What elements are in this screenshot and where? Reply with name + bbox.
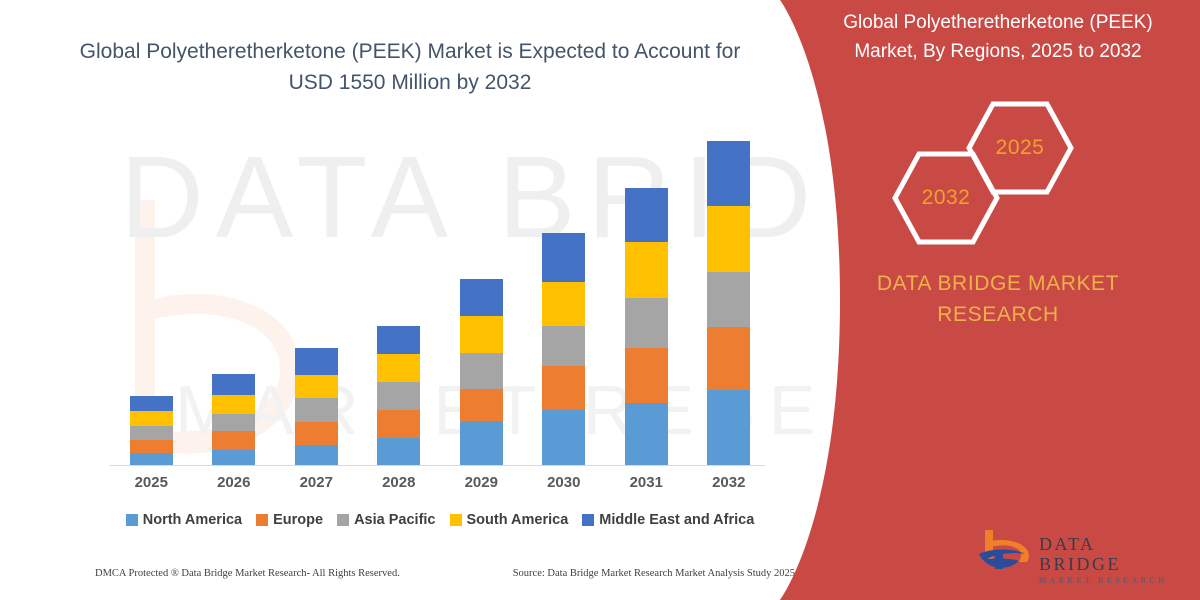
legend-item-asia-pacific[interactable]: Asia Pacific	[337, 512, 435, 528]
bar-2026[interactable]	[212, 374, 255, 466]
bar-segment-asia-pacific-2028[interactable]	[377, 382, 420, 410]
legend-item-middle-east-and-africa[interactable]: Middle East and Africa	[582, 512, 754, 528]
chart-panel: Global Polyetheretherketone (PEEK) Marke…	[0, 0, 830, 600]
bar-segment-asia-pacific-2032[interactable]	[707, 272, 750, 328]
legend-label: Middle East and Africa	[599, 512, 754, 528]
data-bridge-logo-text: DATA BRIDGE MARKET RESEARCH	[1039, 534, 1177, 588]
bar-segment-north-america-2029[interactable]	[460, 421, 503, 466]
chart-baseline	[110, 465, 765, 466]
bar-2025[interactable]	[130, 396, 173, 466]
bar-segment-asia-pacific-2026[interactable]	[212, 414, 255, 432]
x-axis-label-2028: 2028	[358, 474, 440, 491]
legend-label: Europe	[273, 512, 323, 528]
data-bridge-logo: DATA BRIDGE MARKET RESEARCH	[977, 528, 1177, 582]
bar-segment-asia-pacific-2031[interactable]	[625, 298, 668, 348]
bar-segment-asia-pacific-2030[interactable]	[542, 326, 585, 366]
hexagon-badge-2025-label: 2025	[996, 136, 1045, 160]
legend-swatch-icon	[582, 514, 594, 526]
bar-segment-south-america-2026[interactable]	[212, 395, 255, 414]
bar-segment-middle-east-and-africa-2026[interactable]	[212, 374, 255, 395]
bar-segment-europe-2027[interactable]	[295, 422, 338, 445]
bar-segment-europe-2029[interactable]	[460, 389, 503, 421]
bar-segment-south-america-2032[interactable]	[707, 206, 750, 272]
bar-segment-middle-east-and-africa-2027[interactable]	[295, 348, 338, 374]
bar-segment-north-america-2032[interactable]	[707, 390, 750, 466]
bar-2028[interactable]	[377, 326, 420, 466]
bar-segment-middle-east-and-africa-2031[interactable]	[625, 188, 668, 243]
legend-item-south-america[interactable]: South America	[450, 512, 569, 528]
bar-segment-europe-2030[interactable]	[542, 366, 585, 410]
bar-segment-north-america-2031[interactable]	[625, 403, 668, 466]
hexagon-badge-2032-label: 2032	[922, 186, 971, 210]
brand-name: DATA BRIDGE MARKET RESEARCH	[820, 268, 1176, 330]
footer-dmca-text: DMCA Protected ® Data Bridge Market Rese…	[95, 568, 400, 579]
bar-segment-middle-east-and-africa-2029[interactable]	[460, 279, 503, 316]
footer-source-text: Source: Data Bridge Market Research Mark…	[513, 568, 795, 579]
x-axis-label-2026: 2026	[193, 474, 275, 491]
x-axis-tick-labels: 20252026202720282029203020312032	[110, 474, 770, 498]
bar-segment-south-america-2028[interactable]	[377, 354, 420, 382]
legend-label: South America	[467, 512, 569, 528]
legend-item-north-america[interactable]: North America	[126, 512, 242, 528]
x-axis-label-2025: 2025	[110, 474, 192, 491]
logo-title: DATA BRIDGE	[1039, 534, 1177, 574]
legend-swatch-icon	[450, 514, 462, 526]
x-axis-label-2030: 2030	[523, 474, 605, 491]
x-axis-label-2031: 2031	[605, 474, 687, 491]
bar-segment-europe-2031[interactable]	[625, 348, 668, 403]
bar-2030[interactable]	[542, 233, 585, 466]
bar-segment-south-america-2030[interactable]	[542, 282, 585, 326]
bar-2029[interactable]	[460, 279, 503, 466]
bar-segment-middle-east-and-africa-2030[interactable]	[542, 233, 585, 282]
bar-segment-south-america-2031[interactable]	[625, 242, 668, 298]
x-axis-label-2029: 2029	[440, 474, 522, 491]
legend-swatch-icon	[256, 514, 268, 526]
x-axis-label-2032: 2032	[688, 474, 770, 491]
hexagon-badge-2025: 2025	[966, 100, 1074, 196]
footer: DMCA Protected ® Data Bridge Market Rese…	[95, 568, 795, 579]
bar-segment-south-america-2025[interactable]	[130, 411, 173, 426]
legend-swatch-icon	[126, 514, 138, 526]
bar-2031[interactable]	[625, 188, 668, 466]
logo-subtitle: MARKET RESEARCH	[1039, 574, 1177, 588]
data-bridge-logo-mark-icon	[977, 528, 1035, 578]
bar-segment-north-america-2026[interactable]	[212, 450, 255, 466]
legend-item-europe[interactable]: Europe	[256, 512, 323, 528]
legend-swatch-icon	[337, 514, 349, 526]
bar-segment-north-america-2028[interactable]	[377, 438, 420, 466]
bar-segment-middle-east-and-africa-2032[interactable]	[707, 141, 750, 206]
bar-segment-asia-pacific-2025[interactable]	[130, 426, 173, 440]
bar-segment-europe-2025[interactable]	[130, 440, 173, 454]
bar-segment-north-america-2030[interactable]	[542, 410, 585, 466]
bar-2027[interactable]	[295, 348, 338, 466]
legend-label: North America	[143, 512, 242, 528]
bar-segment-europe-2028[interactable]	[377, 410, 420, 437]
bar-segment-europe-2032[interactable]	[707, 327, 750, 390]
x-axis-label-2027: 2027	[275, 474, 357, 491]
bar-2032[interactable]	[707, 141, 750, 466]
bar-segment-asia-pacific-2027[interactable]	[295, 398, 338, 422]
page-title: Global Polyetheretherketone (PEEK) Marke…	[60, 36, 760, 98]
bar-segment-asia-pacific-2029[interactable]	[460, 353, 503, 390]
bar-segment-middle-east-and-africa-2025[interactable]	[130, 396, 173, 412]
legend-label: Asia Pacific	[354, 512, 435, 528]
bar-segment-south-america-2027[interactable]	[295, 375, 338, 398]
bar-segment-middle-east-and-africa-2028[interactable]	[377, 326, 420, 353]
bar-segment-europe-2026[interactable]	[212, 431, 255, 450]
bar-segment-south-america-2029[interactable]	[460, 316, 503, 353]
chart-legend: North AmericaEuropeAsia PacificSouth Ame…	[110, 512, 770, 528]
bar-segment-north-america-2027[interactable]	[295, 445, 338, 466]
bar-chart-plot-area	[110, 130, 770, 466]
brand-panel: Global Polyetheretherketone (PEEK) Marke…	[780, 0, 1200, 600]
brand-heading: Global Polyetheretherketone (PEEK) Marke…	[812, 8, 1184, 66]
